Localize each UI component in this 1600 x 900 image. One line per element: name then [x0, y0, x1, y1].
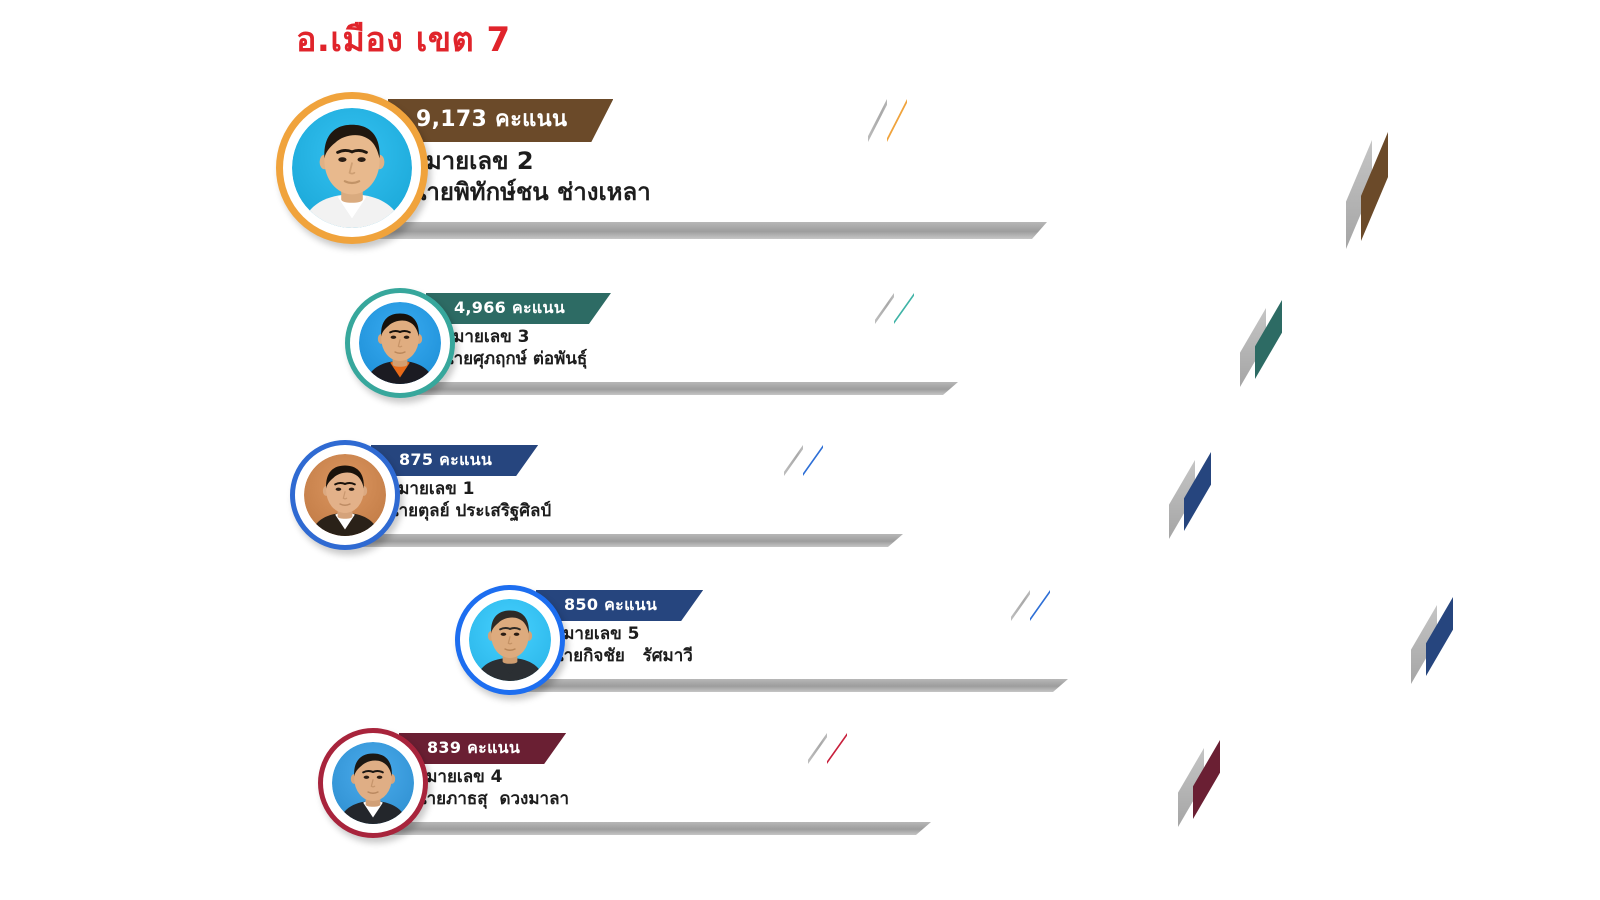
score-banner: 9,173 คะแนน [388, 99, 613, 142]
banner-gray-sliver [1011, 590, 1030, 621]
portrait-photo [332, 742, 414, 824]
candidate-portrait [455, 585, 565, 695]
infographic-canvas: อ.เมือง เขต 7 9,173 คะแนนหมายเลข 2นายพิท… [0, 0, 1600, 900]
banner-gray-sliver [868, 99, 887, 142]
candidate-row: 839 คะแนนหมายเลข 4นายภาธสุ ดวงมาลา [318, 728, 1138, 898]
candidate-name: นายภาธสุ ดวงมาลา [415, 789, 569, 811]
candidate-portrait [345, 288, 455, 398]
portrait-photo [292, 108, 412, 228]
panel-shadow-bar [403, 382, 958, 395]
candidate-portrait [290, 440, 400, 550]
banner-accent-stripe [803, 445, 823, 476]
candidate-name-block: หมายเลข 2นายพิทักษ์ชน ช่างเหลา [410, 146, 651, 207]
score-label: 9,173 คะแนน [388, 109, 613, 131]
candidate-name: นายศุภฤกษ์ ต่อพันธุ์ [442, 349, 587, 371]
portrait-inner-ring [466, 596, 554, 684]
detached-accent-bar [1255, 300, 1282, 379]
candidate-name-block: หมายเลข 3นายศุภฤกษ์ ต่อพันธุ์ [442, 327, 587, 371]
panel-shadow-bar [348, 534, 903, 547]
score-label: 850 คะแนน [536, 597, 703, 613]
banner-accent-stripe [827, 733, 847, 764]
candidate-number: หมายเลข 1 [387, 479, 551, 501]
candidate-name-block: หมายเลข 5นายกิจชัย รัศมาวี [552, 624, 693, 668]
portrait-inner-ring [356, 299, 444, 387]
score-banner: 839 คะแนน [399, 733, 566, 764]
candidate-number: หมายเลข 4 [415, 767, 569, 789]
portrait-inner-ring [329, 739, 417, 827]
candidate-name-block: หมายเลข 4นายภาธสุ ดวงมาลา [415, 767, 569, 811]
candidate-name: นายกิจชัย รัศมาวี [552, 646, 693, 668]
candidate-name-block: หมายเลข 1นายตุลย์ ประเสริฐศิลป์ [387, 479, 551, 523]
candidate-row: 4,966 คะแนนหมายเลข 3นายศุภฤกษ์ ต่อพันธุ์ [345, 288, 1165, 458]
panel-shadow-bar [513, 679, 1068, 692]
detached-accent-bar [1426, 597, 1453, 676]
banner-accent-stripe [894, 293, 914, 324]
candidate-number: หมายเลข 3 [442, 327, 587, 349]
detached-accent-bar [1361, 132, 1388, 241]
detached-accent-bar [1184, 452, 1211, 531]
banner-accent-stripe [1030, 590, 1050, 621]
candidate-number: หมายเลข 5 [552, 624, 693, 646]
portrait-inner-ring [289, 105, 415, 231]
score-banner: 850 คะแนน [536, 590, 703, 621]
candidate-row: 9,173 คะแนนหมายเลข 2นายพิทักษ์ชน ช่างเหล… [276, 92, 1236, 262]
panel-shadow-bar [376, 822, 931, 835]
portrait-inner-ring [301, 451, 389, 539]
candidate-name: นายตุลย์ ประเสริฐศิลป์ [387, 501, 551, 523]
candidate-portrait [276, 92, 428, 244]
candidate-name: นายพิทักษ์ชน ช่างเหลา [410, 177, 651, 208]
candidate-number: หมายเลข 2 [410, 146, 651, 177]
page-title: อ.เมือง เขต 7 [296, 12, 511, 66]
score-label: 875 คะแนน [371, 452, 538, 468]
score-banner: 875 คะแนน [371, 445, 538, 476]
banner-gray-sliver [875, 293, 894, 324]
banner-gray-sliver [808, 733, 827, 764]
portrait-photo [304, 454, 386, 536]
banner-accent-stripe [887, 99, 907, 142]
candidate-portrait [318, 728, 428, 838]
score-label: 839 คะแนน [399, 740, 566, 756]
score-label: 4,966 คะแนน [426, 300, 611, 316]
banner-gray-sliver [784, 445, 803, 476]
portrait-photo [469, 599, 551, 681]
panel-shadow-bar [357, 222, 1047, 239]
score-banner: 4,966 คะแนน [426, 293, 611, 324]
portrait-photo [359, 302, 441, 384]
